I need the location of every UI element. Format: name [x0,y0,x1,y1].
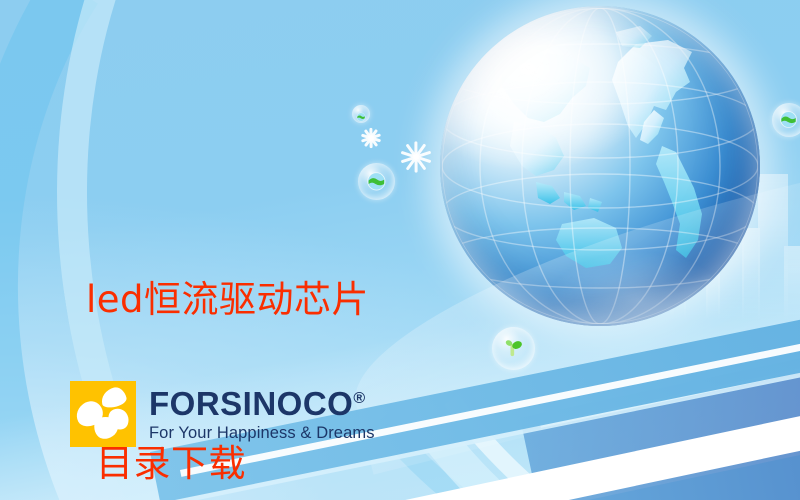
daisy-flower-small [360,127,382,149]
bubble-globe-icon-right [772,103,800,137]
logo-petal-top [99,385,128,409]
registered-trademark-icon: ® [353,390,365,407]
daisy-flower-large [399,140,433,174]
sprout-icon [501,336,525,360]
bubble-sprout-icon [492,327,535,370]
mini-globe-icon [779,110,798,129]
page-title: led恒流驱动芯片 目录下载 [86,163,369,500]
logo-text-block: FORSINOCO® For Your Happiness & Dreams [149,387,375,442]
headline-line-1: led恒流驱动芯片 [86,273,369,328]
forsinoco-pinwheel-mark [70,381,136,447]
logo-wordmark-text: FORSINOCO [149,385,353,422]
brand-logo[interactable]: FORSINOCO® For Your Happiness & Dreams [70,381,375,447]
led-driver-catalog-banner: led恒流驱动芯片 目录下载 FORSINOCO® For Your Happi… [0,0,800,500]
mini-globe-icon [366,171,387,192]
logo-wordmark: FORSINOCO® [149,387,375,420]
mini-globe-icon [356,109,366,119]
logo-tagline: For Your Happiness & Dreams [149,425,375,442]
bubble-globe-icon-top [352,105,370,123]
